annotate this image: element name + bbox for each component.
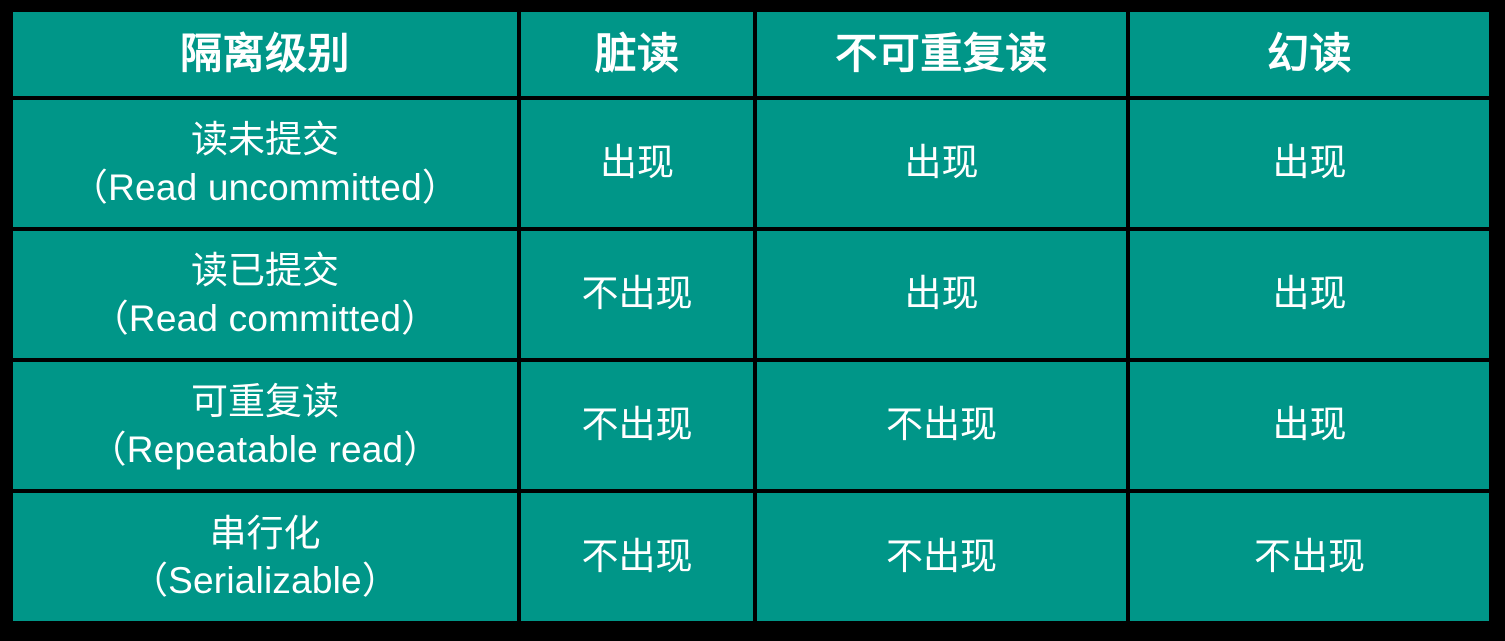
isolation-level-name-cn: 读已提交 bbox=[17, 247, 513, 294]
cell-non-repeatable-read: 不出现 bbox=[755, 360, 1128, 491]
cell-phantom-read: 出现 bbox=[1128, 360, 1491, 491]
isolation-level-name-cn: 串行化 bbox=[17, 510, 513, 557]
page-root: 隔离级别 脏读 不可重复读 幻读 读未提交 （Read uncommitted）… bbox=[0, 0, 1505, 641]
cell-isolation-level: 读未提交 （Read uncommitted） bbox=[11, 98, 519, 229]
cell-dirty-read: 出现 bbox=[519, 98, 755, 229]
cell-dirty-read: 不出现 bbox=[519, 229, 755, 360]
column-header-phantom-read: 幻读 bbox=[1128, 10, 1491, 98]
cell-non-repeatable-read: 不出现 bbox=[755, 491, 1128, 623]
isolation-level-name-en: （Repeatable read） bbox=[17, 426, 513, 473]
cell-isolation-level: 串行化 （Serializable） bbox=[11, 491, 519, 623]
isolation-level-name-cn: 读未提交 bbox=[17, 116, 513, 163]
isolation-level-name-en: （Serializable） bbox=[17, 557, 513, 604]
table-row: 读已提交 （Read committed） 不出现 出现 出现 bbox=[11, 229, 1491, 360]
cell-non-repeatable-read: 出现 bbox=[755, 98, 1128, 229]
table-header: 隔离级别 脏读 不可重复读 幻读 bbox=[11, 10, 1491, 98]
cell-phantom-read: 出现 bbox=[1128, 98, 1491, 229]
column-header-non-repeatable-read: 不可重复读 bbox=[755, 10, 1128, 98]
table-header-row: 隔离级别 脏读 不可重复读 幻读 bbox=[11, 10, 1491, 98]
isolation-level-name-en: （Read committed） bbox=[17, 295, 513, 342]
isolation-level-name-cn: 可重复读 bbox=[17, 378, 513, 425]
isolation-level-name-en: （Read uncommitted） bbox=[17, 164, 513, 211]
table-row: 串行化 （Serializable） 不出现 不出现 不出现 bbox=[11, 491, 1491, 623]
cell-phantom-read: 出现 bbox=[1128, 229, 1491, 360]
column-header-isolation-level: 隔离级别 bbox=[11, 10, 519, 98]
cell-isolation-level: 读已提交 （Read committed） bbox=[11, 229, 519, 360]
cell-non-repeatable-read: 出现 bbox=[755, 229, 1128, 360]
table-body: 读未提交 （Read uncommitted） 出现 出现 出现 读已提交 （R… bbox=[11, 98, 1491, 623]
table-row: 读未提交 （Read uncommitted） 出现 出现 出现 bbox=[11, 98, 1491, 229]
cell-phantom-read: 不出现 bbox=[1128, 491, 1491, 623]
cell-dirty-read: 不出现 bbox=[519, 491, 755, 623]
table-row: 可重复读 （Repeatable read） 不出现 不出现 出现 bbox=[11, 360, 1491, 491]
cell-isolation-level: 可重复读 （Repeatable read） bbox=[11, 360, 519, 491]
isolation-level-table-wrapper: 隔离级别 脏读 不可重复读 幻读 读未提交 （Read uncommitted）… bbox=[9, 8, 1489, 623]
isolation-level-table: 隔离级别 脏读 不可重复读 幻读 读未提交 （Read uncommitted）… bbox=[9, 8, 1493, 625]
cell-dirty-read: 不出现 bbox=[519, 360, 755, 491]
column-header-dirty-read: 脏读 bbox=[519, 10, 755, 98]
